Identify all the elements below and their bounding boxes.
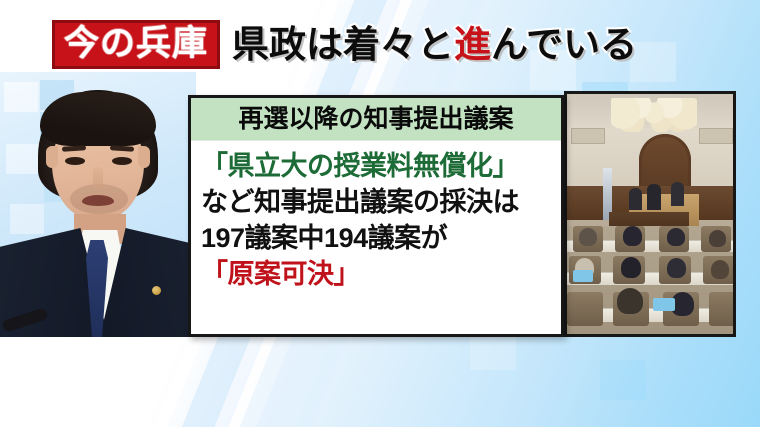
hall-attendee <box>667 258 686 278</box>
hall-attendee <box>667 228 685 246</box>
caption-line-2: など知事提出議案の採決は <box>201 185 561 221</box>
caption-panel-title: 再選以降の知事提出議案 <box>238 107 513 132</box>
portrait-mouth <box>82 195 114 206</box>
hall-chair <box>567 292 603 326</box>
headline-bar: 今の兵庫 県政は着々と進んでいる <box>0 0 760 88</box>
hall-attendee <box>579 228 597 246</box>
hall-vent-right <box>699 128 733 144</box>
caption-panel: 再選以降の知事提出議案 「県立大の授業料無償化」 など知事提出議案の採決は 19… <box>188 95 564 337</box>
hall-vent-left <box>571 128 605 144</box>
hall-official-1 <box>629 188 642 210</box>
hall-chair <box>709 292 736 326</box>
caption-line-3: 197議案中194議案が <box>201 221 561 257</box>
portrait-hair-front <box>40 92 156 146</box>
hall-laptop <box>573 270 593 282</box>
portrait-lapel-pin <box>152 286 161 295</box>
portrait-eye-left <box>65 157 85 165</box>
portrait-ear-right <box>138 146 150 168</box>
headline-text: 県政は着々と進んでいる <box>232 26 637 63</box>
headline-part-1: 県政は着々と <box>232 24 454 65</box>
hall-attendee <box>623 226 642 246</box>
headline-badge-label: 今の兵庫 <box>64 26 208 61</box>
headline-badge: 今の兵庫 <box>52 20 220 69</box>
assembly-chamber-photo <box>564 91 736 337</box>
hall-official-2 <box>647 184 661 210</box>
hall-chandelier <box>611 98 697 132</box>
caption-panel-body: 「県立大の授業料無償化」 など知事提出議案の採決は 197議案中194議案が 「… <box>191 141 561 293</box>
portrait-eye-right <box>112 157 132 165</box>
hall-seating-area <box>567 226 733 337</box>
headline-part-2-accent: 進 <box>454 24 491 65</box>
portrait-nose <box>93 167 103 189</box>
caption-line-4: 「原案可決」 <box>201 257 561 293</box>
headline-part-3: んでいる <box>491 24 637 65</box>
hall-attendee <box>709 230 726 247</box>
governor-portrait-photo <box>0 72 196 337</box>
hall-laptop <box>653 298 675 311</box>
caption-panel-header: 再選以降の知事提出議案 <box>191 98 561 141</box>
hall-attendee <box>621 257 641 278</box>
hall-attendee <box>711 260 729 279</box>
hall-official-3 <box>671 182 684 206</box>
hall-attendee <box>617 288 643 314</box>
caption-line-1: 「県立大の授業料無償化」 <box>201 149 561 185</box>
portrait-ear-left <box>46 146 58 168</box>
